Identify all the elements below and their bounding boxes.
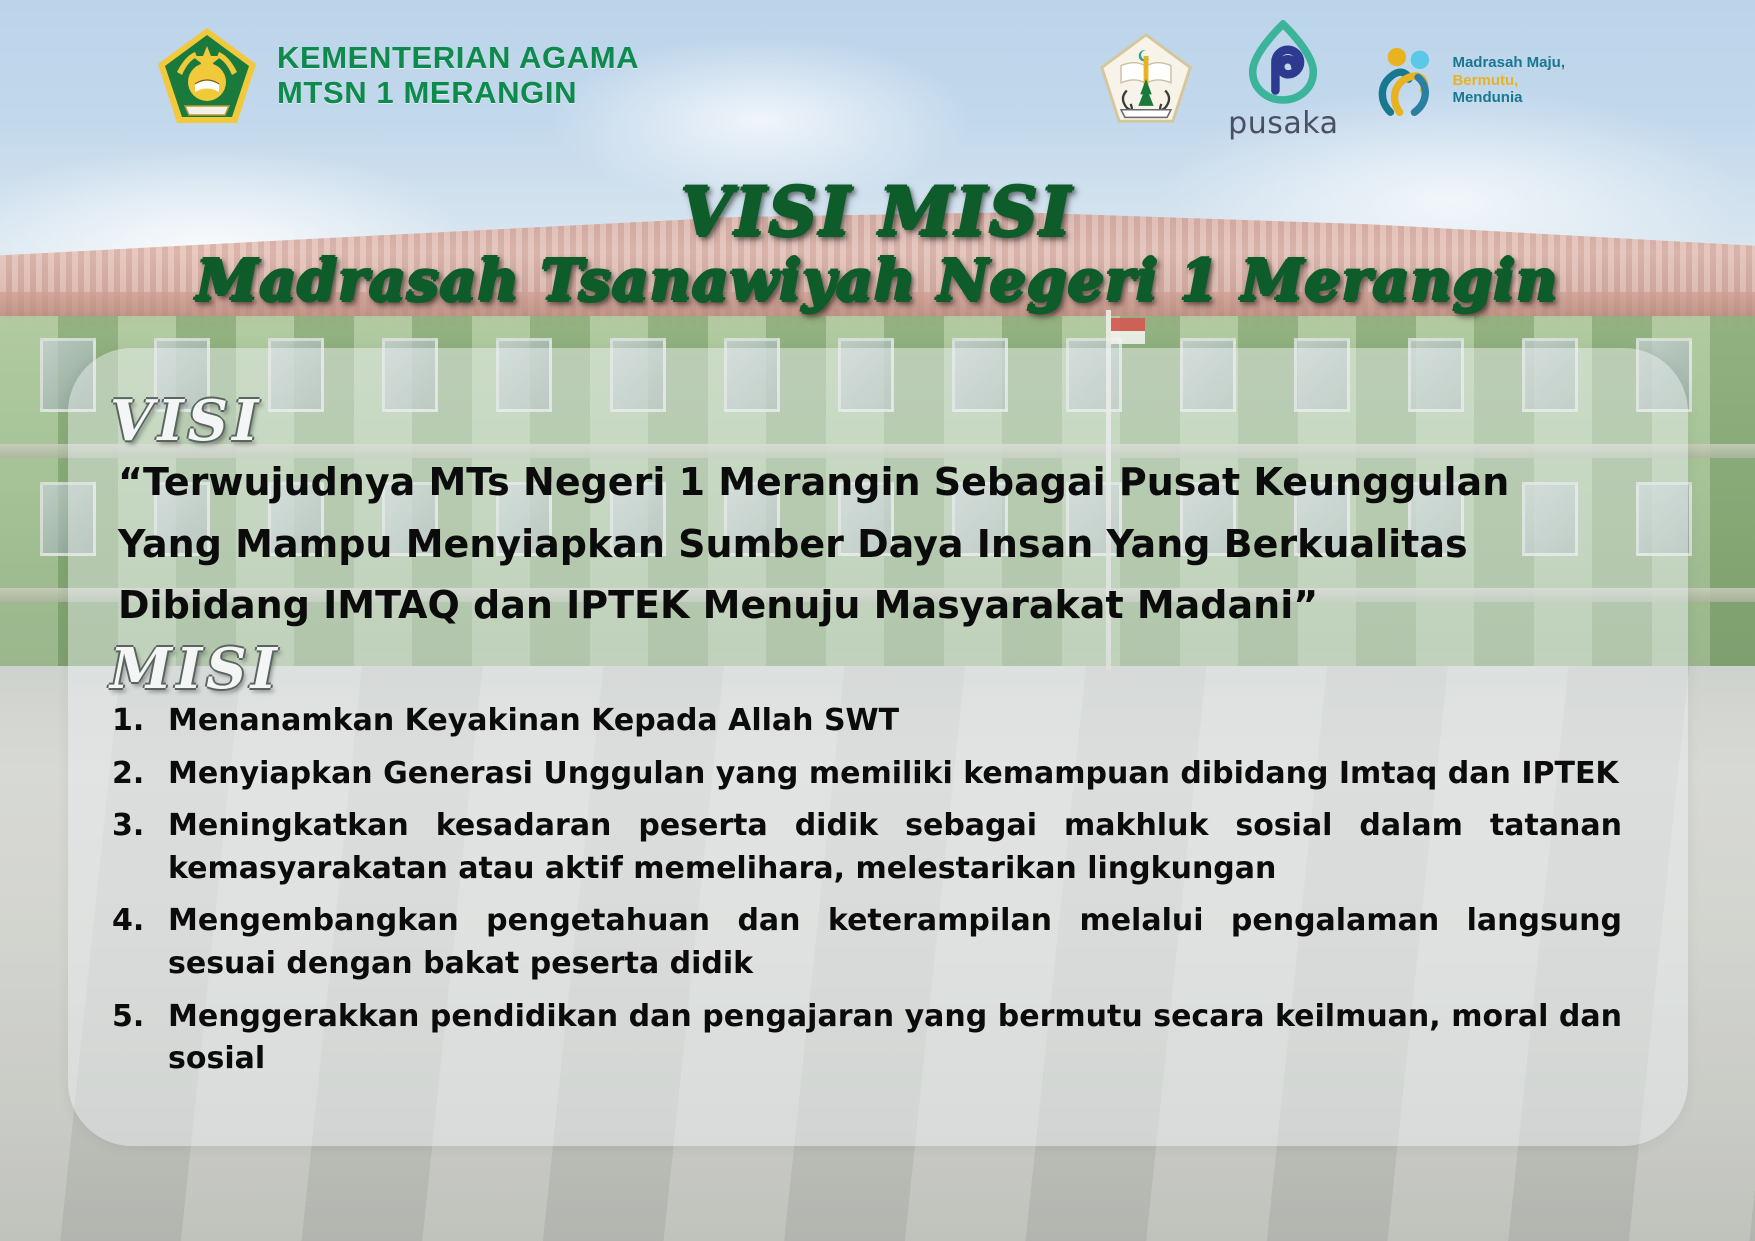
list-item: 3. Meningkatkan kesadaran peserta didik …	[112, 805, 1622, 890]
visi-line: Yang Mampu Menyiapkan Sumber Daya Insan …	[118, 514, 1600, 576]
slogan-line-2: Bermutu,	[1452, 72, 1565, 90]
misi-item-number: 4.	[112, 900, 150, 985]
misi-item-number: 3.	[112, 805, 150, 890]
visi-statement: “Terwujudnya MTs Negeri 1 Merangin Sebag…	[118, 452, 1600, 637]
visi-heading: VISI	[110, 388, 262, 454]
misi-item-text: Meningkatkan kesadaran peserta didik seb…	[168, 805, 1622, 890]
madrasah-slogan-branding: Madrasah Maju, Bermutu, Mendunia	[1372, 44, 1565, 118]
pusaka-branding: pusaka	[1228, 20, 1338, 141]
mtsn-1-merangin-logo	[1098, 31, 1194, 131]
poster-titles: VISI MISI Madrasah Tsanawiyah Negeri 1 M…	[0, 178, 1755, 313]
header-bar: KEMENTERIAN AGAMA MTSN 1 MERANGIN	[0, 0, 1755, 152]
list-item: 2. Menyiapkan Generasi Unggulan yang mem…	[112, 753, 1622, 796]
misi-item-number: 5.	[112, 996, 150, 1081]
visi-misi-poster: KEMENTERIAN AGAMA MTSN 1 MERANGIN	[0, 0, 1755, 1241]
kemenag-line-2: MTSN 1 MERANGIN	[277, 76, 639, 111]
page-subtitle: Madrasah Tsanawiyah Negeri 1 Merangin	[0, 251, 1755, 313]
misi-heading: MISI	[110, 636, 281, 702]
partner-logos: pusaka Madrasah Maju, Bermutu, Mendunia	[1098, 20, 1565, 141]
misi-item-number: 2.	[112, 753, 150, 796]
visi-line: Dibidang IMTAQ dan IPTEK Menuju Masyarak…	[118, 575, 1600, 637]
list-item: 5. Menggerakkan pendidikan dan pengajara…	[112, 996, 1622, 1081]
kemenag-title-block: KEMENTERIAN AGAMA MTSN 1 MERANGIN	[277, 41, 639, 110]
kemenag-logo	[155, 26, 259, 126]
list-item: 4. Mengembangkan pengetahuan dan keteram…	[112, 900, 1622, 985]
pusaka-label: pusaka	[1228, 106, 1338, 141]
slogan-line-1: Madrasah Maju,	[1452, 54, 1565, 72]
slogan-line-3: Mendunia	[1452, 89, 1565, 107]
kemenag-line-1: KEMENTERIAN AGAMA	[277, 41, 639, 76]
madrasah-slogan-text: Madrasah Maju, Bermutu, Mendunia	[1452, 54, 1565, 107]
kemenag-branding: KEMENTERIAN AGAMA MTSN 1 MERANGIN	[155, 26, 639, 126]
list-item: 1. Menanamkan Keyakinan Kepada Allah SWT	[112, 700, 1622, 743]
misi-item-text: Menggerakkan pendidikan dan pengajaran y…	[168, 996, 1622, 1081]
pusaka-icon	[1247, 20, 1319, 106]
madrasah-people-icon	[1372, 44, 1442, 118]
page-title: VISI MISI	[0, 178, 1755, 247]
misi-list: 1. Menanamkan Keyakinan Kepada Allah SWT…	[112, 700, 1622, 1091]
misi-item-text: Mengembangkan pengetahuan dan keterampil…	[168, 900, 1622, 985]
misi-item-number: 1.	[112, 700, 150, 743]
visi-line: “Terwujudnya MTs Negeri 1 Merangin Sebag…	[118, 452, 1600, 514]
misi-item-text: Menyiapkan Generasi Unggulan yang memili…	[168, 753, 1622, 796]
indonesian-flag-background	[1111, 318, 1145, 344]
misi-item-text: Menanamkan Keyakinan Kepada Allah SWT	[168, 700, 1622, 743]
